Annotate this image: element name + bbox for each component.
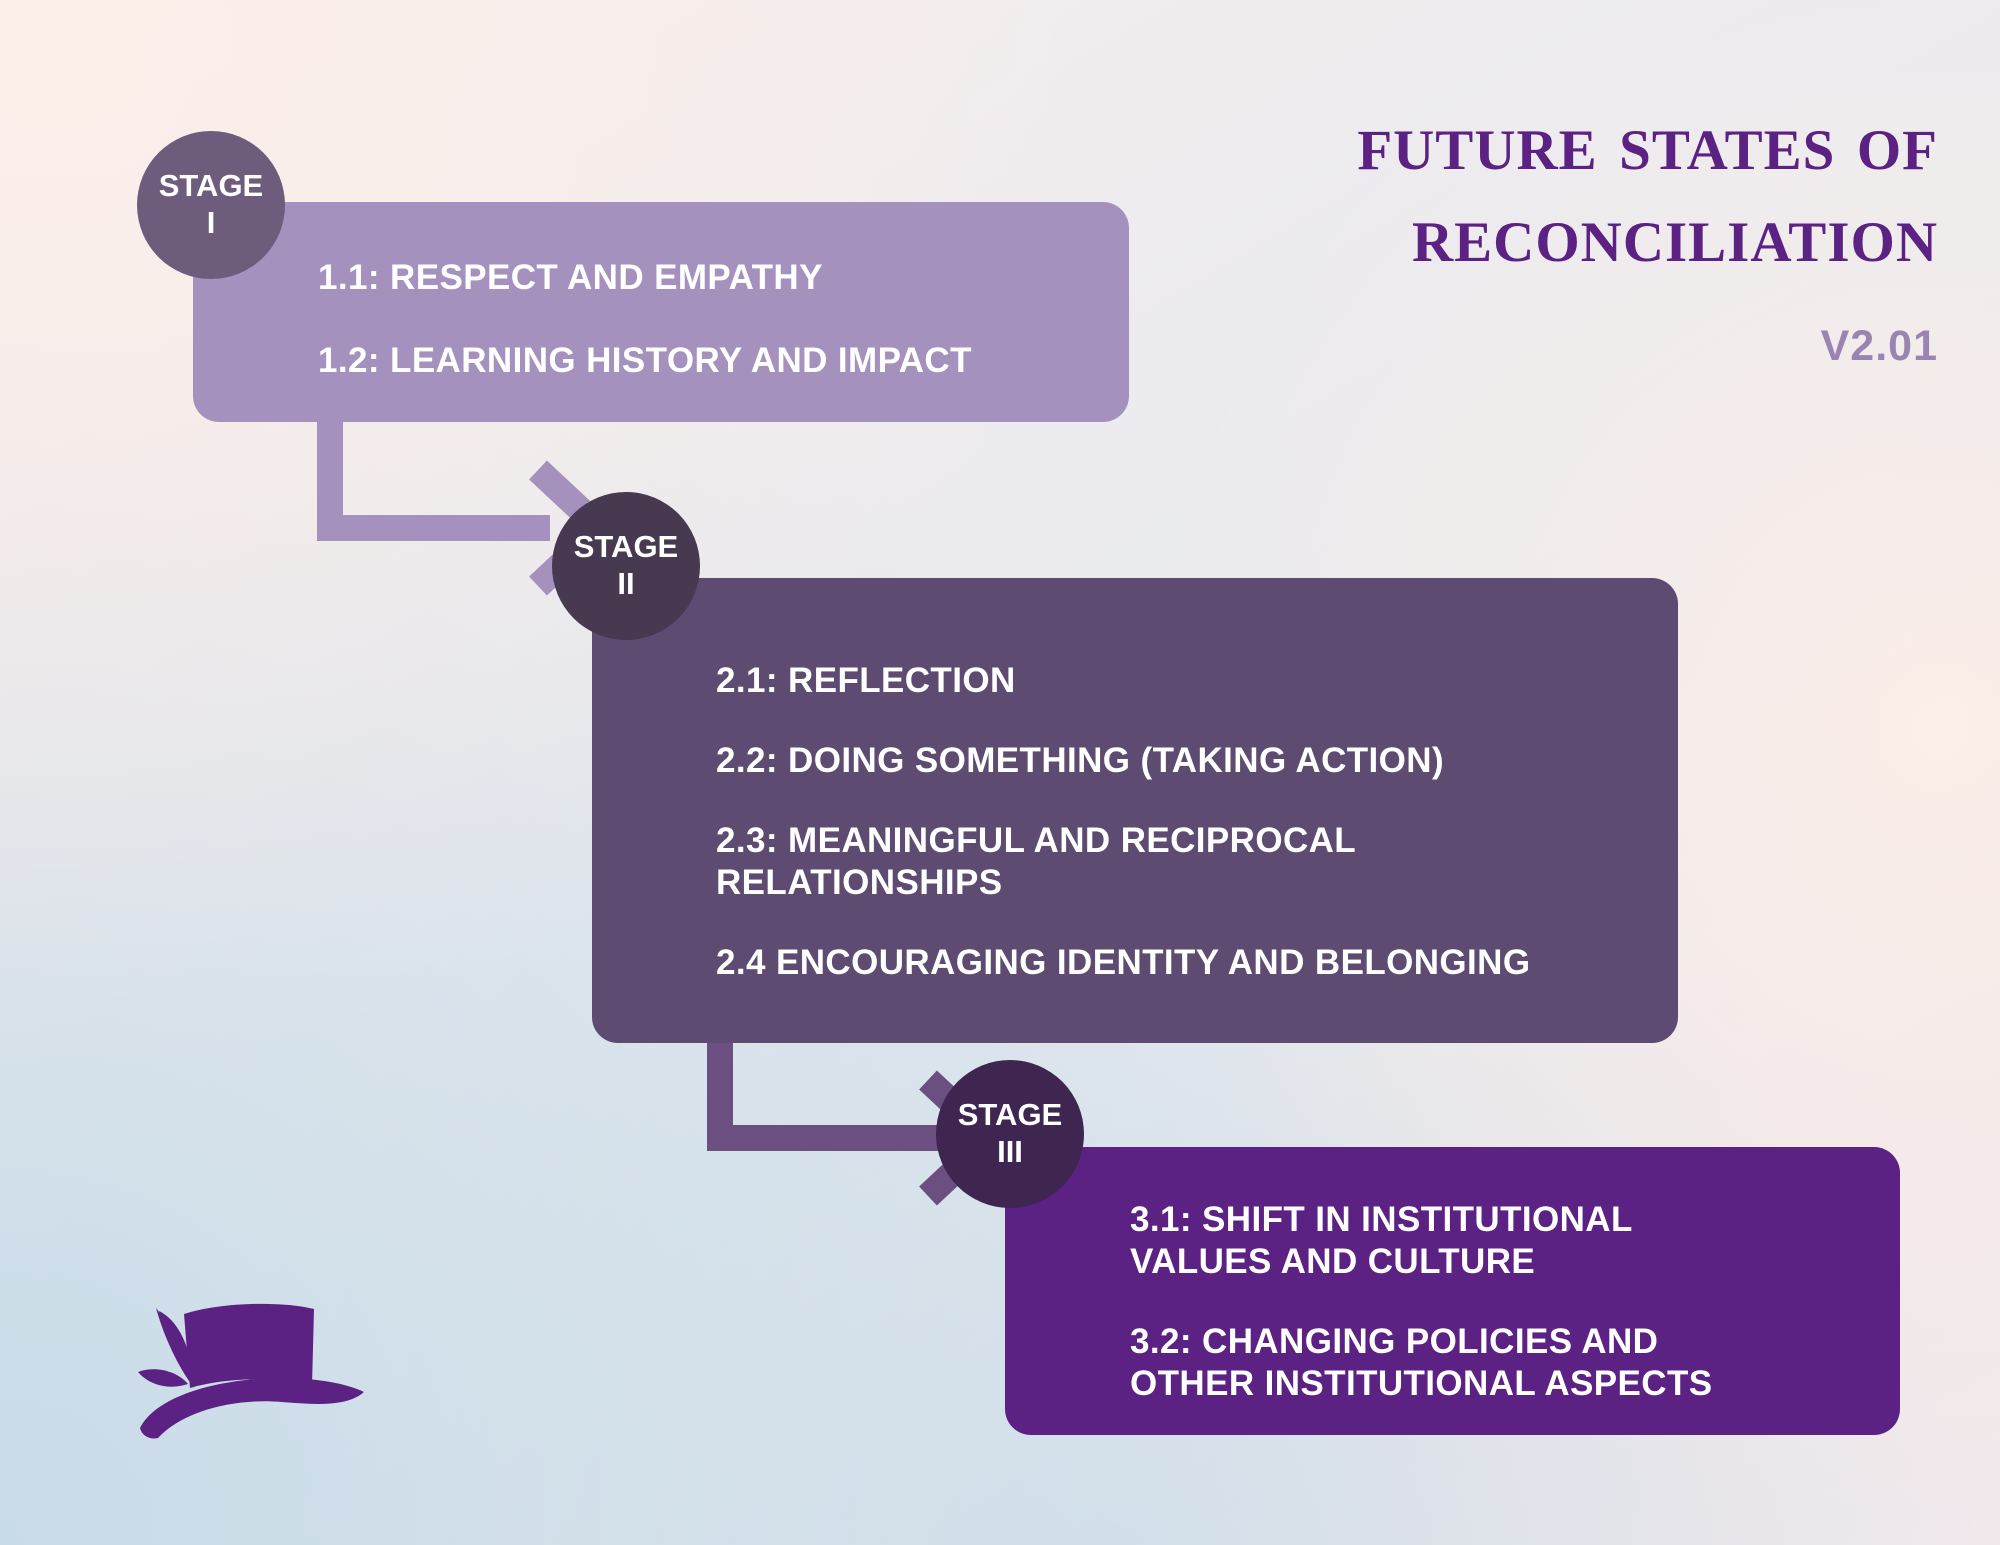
list-item: 2.2: DOING SOMETHING (TAKING ACTION): [716, 740, 1678, 782]
hat-crown-shape: [184, 1304, 314, 1388]
stage-three-card: 3.1: SHIFT IN INSTITUTIONAL VALUES AND C…: [1005, 1147, 1900, 1435]
hat-brim-shape: [140, 1378, 364, 1439]
top-hat-with-feather-logo: [132, 1292, 372, 1452]
stage-three-badge: STAGE III: [936, 1060, 1084, 1208]
heading-block: Future States of Reconciliation V2.01: [1078, 96, 1938, 371]
list-item: 3.1: SHIFT IN INSTITUTIONAL VALUES AND C…: [1130, 1199, 1690, 1283]
list-item: 2.3: MEANINGFUL AND RECIPROCAL RELATIONS…: [716, 820, 1376, 904]
page-title-line-2: Reconciliation: [1078, 188, 1938, 280]
stage-one-item-list: 1.1: RESPECT AND EMPATHY 1.2: LEARNING H…: [193, 202, 1129, 381]
stage-badge-label: STAGE: [159, 168, 264, 205]
stage-two-badge: STAGE II: [552, 492, 700, 640]
page-title-line-1: Future States of: [1078, 96, 1938, 188]
stage-badge-numeral: III: [997, 1134, 1023, 1171]
leaf-shape: [138, 1369, 188, 1386]
stage-one-card: 1.1: RESPECT AND EMPATHY 1.2: LEARNING H…: [193, 202, 1129, 422]
stage-three-item-list: 3.1: SHIFT IN INSTITUTIONAL VALUES AND C…: [1005, 1147, 1900, 1405]
stage-two-card: 2.1: REFLECTION 2.2: DOING SOMETHING (TA…: [592, 578, 1678, 1043]
list-item: 2.1: REFLECTION: [716, 660, 1678, 702]
stage-one-badge: STAGE I: [137, 131, 285, 279]
stage-badge-label: STAGE: [574, 529, 679, 566]
stage-badge-numeral: II: [617, 566, 634, 603]
arrow-elbow-path: [330, 408, 550, 528]
stage-two-item-list: 2.1: REFLECTION 2.2: DOING SOMETHING (TA…: [592, 578, 1678, 984]
poster-canvas: Future States of Reconciliation V2.01 1.…: [0, 0, 2000, 1545]
version-label: V2.01: [1078, 322, 1938, 371]
list-item: 1.1: RESPECT AND EMPATHY: [318, 258, 1129, 298]
list-item: 3.2: CHANGING POLICIES AND OTHER INSTITU…: [1130, 1321, 1770, 1405]
page-title: Future States of Reconciliation: [1078, 96, 1938, 280]
list-item: 2.4 ENCOURAGING IDENTITY AND BELONGING: [716, 942, 1678, 984]
stage-badge-numeral: I: [207, 205, 216, 242]
list-item: 1.2: LEARNING HISTORY AND IMPACT: [318, 341, 1129, 381]
stage-badge-label: STAGE: [958, 1097, 1063, 1134]
